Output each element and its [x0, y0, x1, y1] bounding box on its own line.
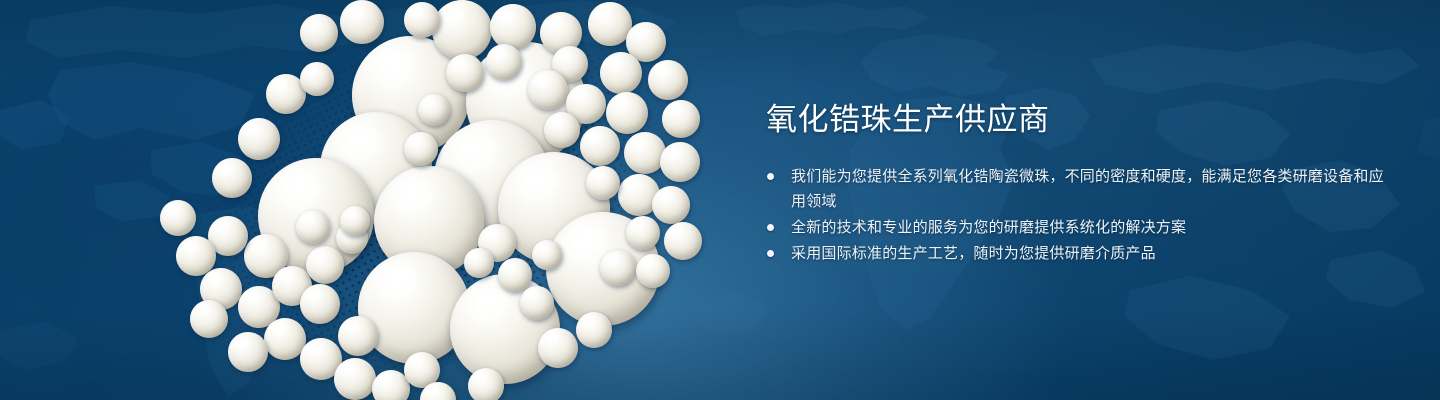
bullet-dot-icon [767, 173, 774, 180]
hero-banner: 氧化锆珠生产供应商 我们能为您提供全系列氧化锆陶瓷微珠，不同的密度和硬度，能满足… [0, 0, 1440, 400]
page-title: 氧化锆珠生产供应商 [766, 100, 1386, 140]
feature-text: 采用国际标准的生产工艺，随时为您提供研磨介质产品 [791, 244, 1156, 262]
banner-copy: 氧化锆珠生产供应商 我们能为您提供全系列氧化锆陶瓷微珠，不同的密度和硬度，能满足… [766, 100, 1386, 267]
bullet-dot-icon [767, 224, 774, 231]
feature-text: 全新的技术和专业的服务为您的研磨提供系统化的解决方案 [791, 218, 1186, 236]
bullet-dot-icon [767, 250, 774, 257]
feature-list: 我们能为您提供全系列氧化锆陶瓷微珠，不同的密度和硬度，能满足您各类研磨设备和应用… [766, 164, 1386, 266]
list-item: 我们能为您提供全系列氧化锆陶瓷微珠，不同的密度和硬度，能满足您各类研磨设备和应用… [766, 164, 1386, 214]
feature-text: 我们能为您提供全系列氧化锆陶瓷微珠，不同的密度和硬度，能满足您各类研磨设备和应用… [791, 167, 1384, 210]
list-item: 全新的技术和专业的服务为您的研磨提供系统化的解决方案 [766, 215, 1386, 240]
list-item: 采用国际标准的生产工艺，随时为您提供研磨介质产品 [766, 241, 1386, 266]
zirconia-beads-image [0, 0, 760, 400]
